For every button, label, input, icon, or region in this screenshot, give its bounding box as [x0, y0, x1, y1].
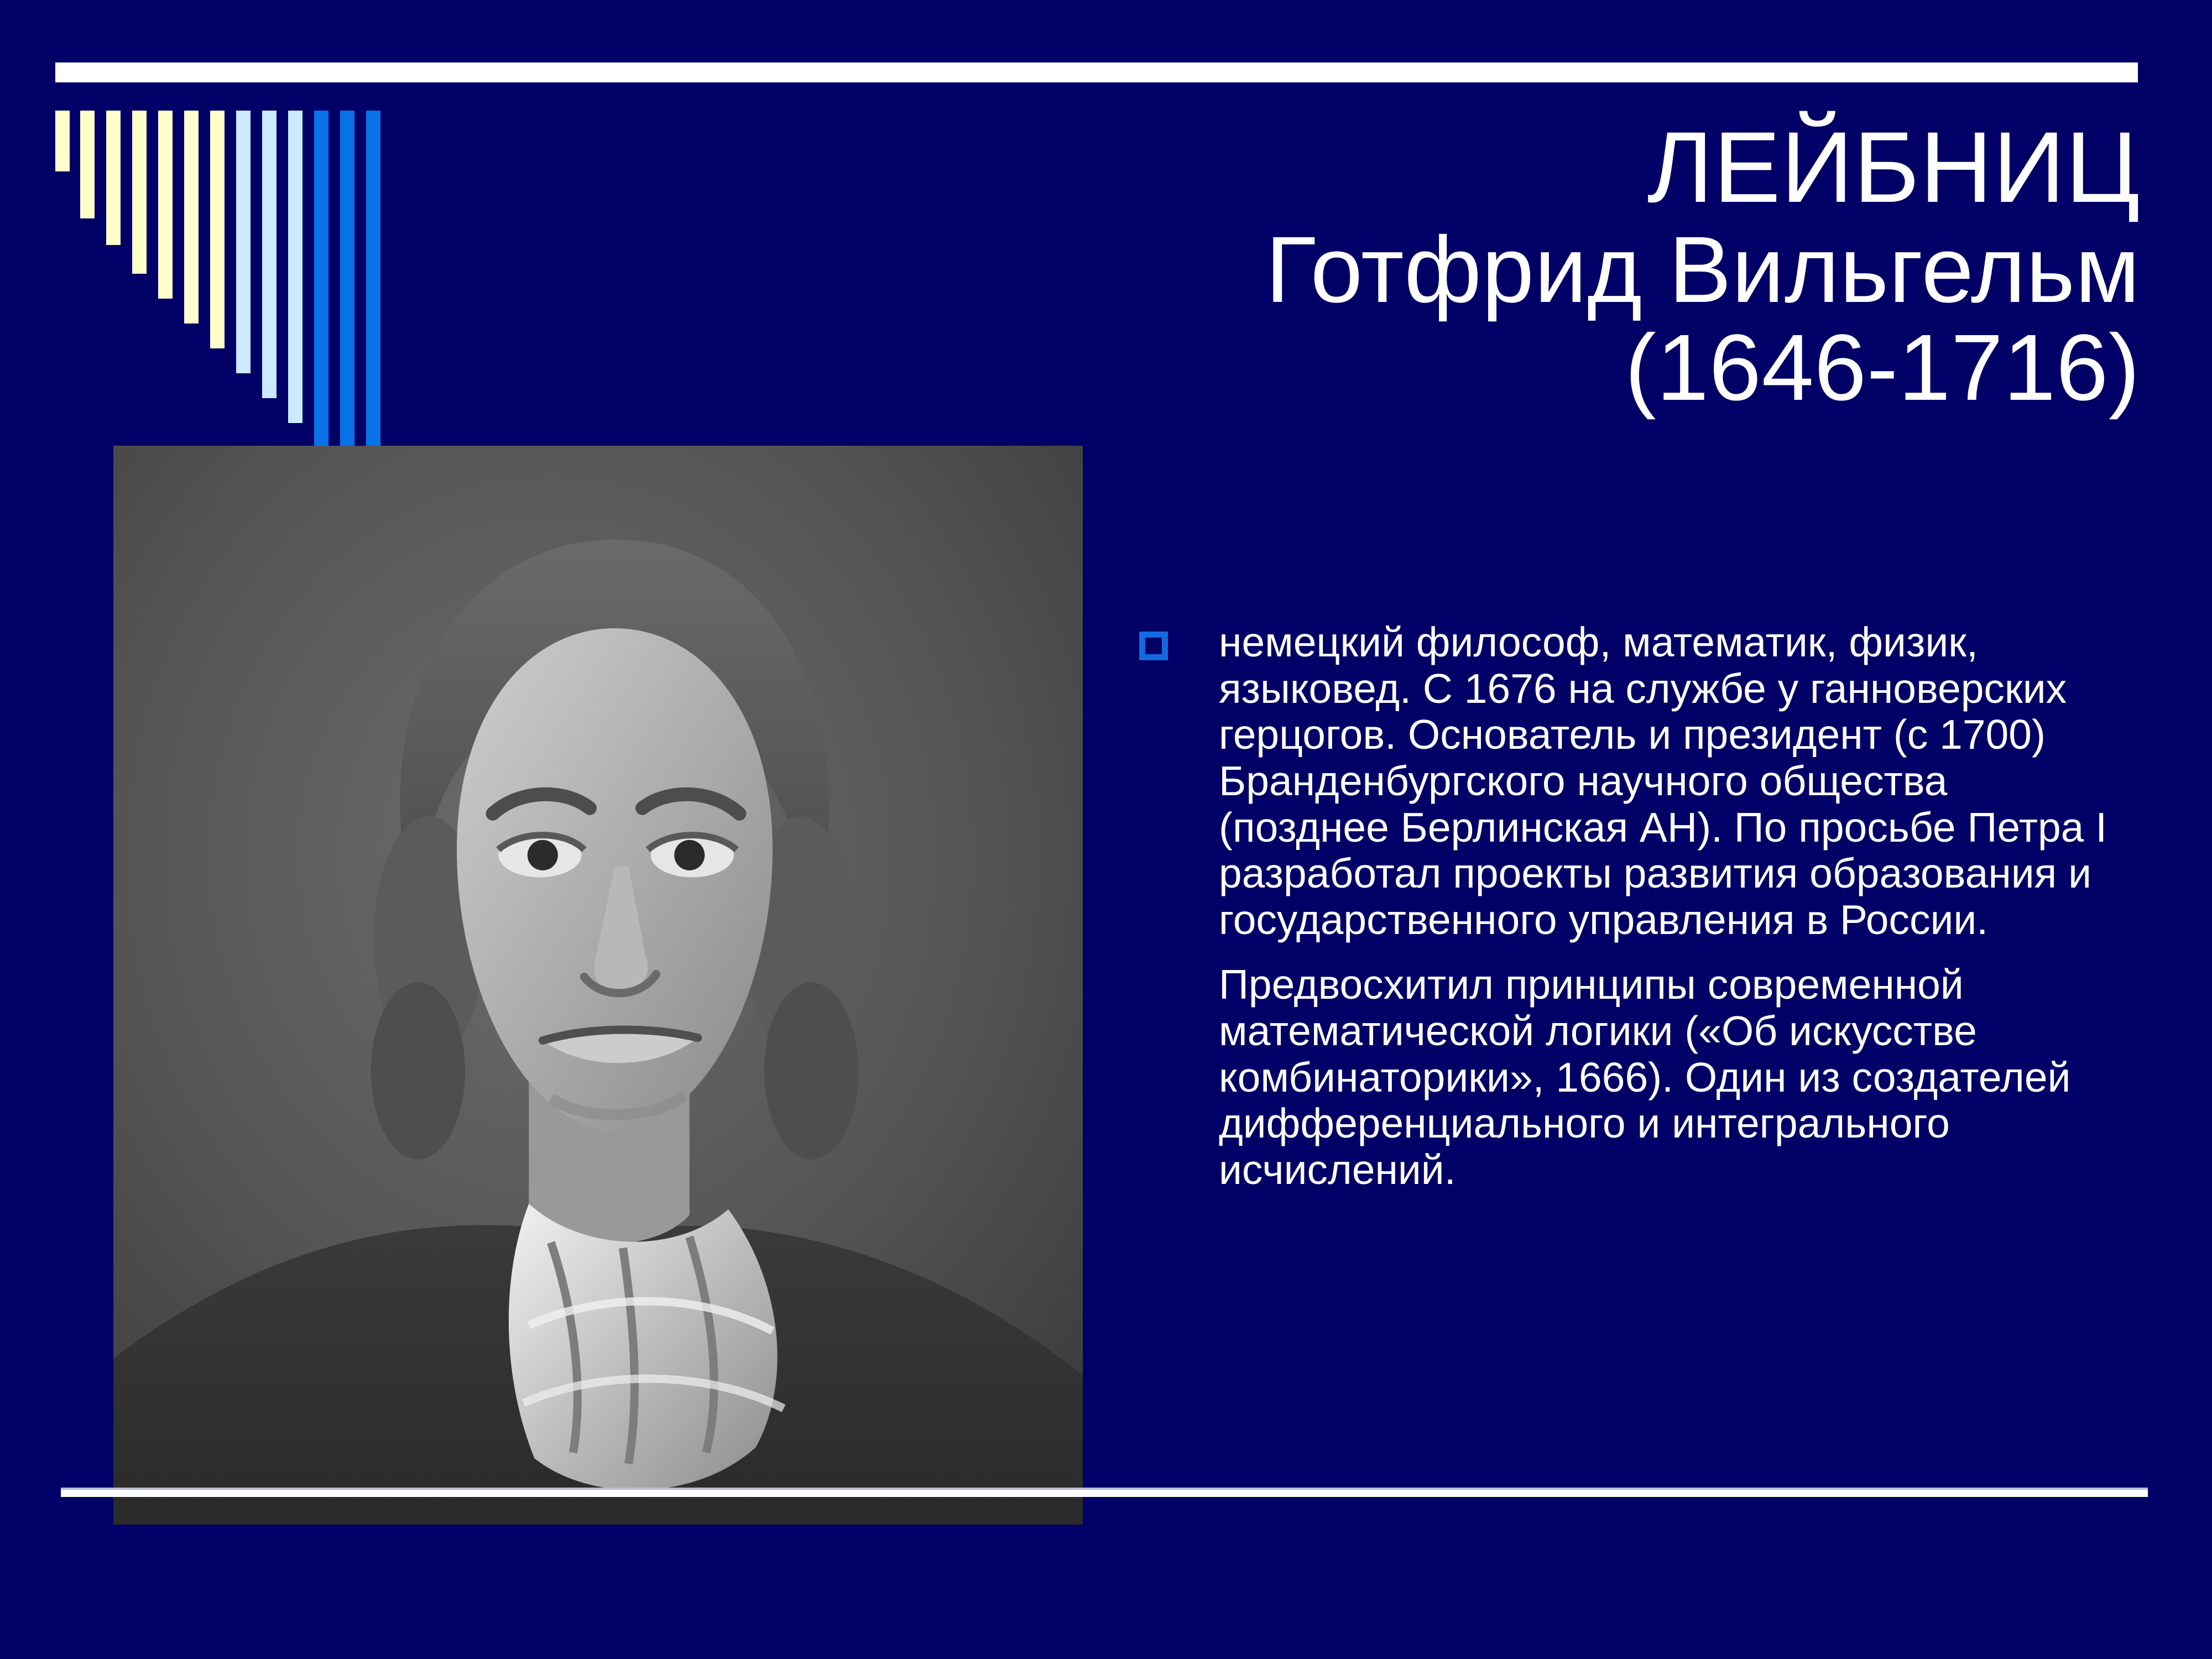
decoration-bar-5 — [158, 111, 173, 299]
decoration-bar-1 — [55, 111, 70, 171]
descending-bars-decoration — [55, 111, 398, 453]
portrait-photo — [113, 446, 1083, 1525]
bottom-horizontal-rule — [61, 1488, 2148, 1497]
decoration-bar-10 — [288, 111, 302, 423]
bullet-paragraph-text: немецкий философ, математик, физик, язык… — [1219, 619, 2129, 943]
slide-title: ЛЕЙБНИЦ Готфрид Вильгельм (1646-1716) — [724, 116, 2140, 416]
decoration-bar-12 — [340, 111, 354, 473]
slide-canvas: ЛЕЙБНИЦ Готфрид Вильгельм (1646-1716) не… — [0, 0, 2212, 1659]
decoration-bar-7 — [210, 111, 225, 348]
decoration-bar-13 — [366, 111, 380, 498]
decoration-bar-9 — [262, 111, 276, 398]
hollow-square-bullet-icon — [1139, 632, 1168, 660]
decoration-bar-3 — [106, 111, 121, 245]
title-surname: ЛЕЙБНИЦ — [724, 116, 2140, 219]
body-text-column: немецкий философ, математик, физик, язык… — [1139, 619, 2129, 1193]
secondary-paragraph: Предвосхитил принципы современной матема… — [1219, 962, 2129, 1193]
decoration-bar-8 — [236, 111, 251, 373]
decoration-bar-4 — [132, 111, 147, 274]
top-horizontal-rule — [55, 62, 2138, 82]
title-lifespan: (1646-1716) — [724, 320, 2140, 416]
decoration-bar-6 — [184, 111, 199, 324]
portrait-illustration — [113, 446, 1083, 1525]
decoration-bar-2 — [80, 111, 95, 218]
title-given-names: Готфрид Вильгельм — [724, 222, 2140, 318]
decoration-bar-11 — [314, 111, 328, 448]
list-item: немецкий философ, математик, физик, язык… — [1139, 619, 2129, 943]
